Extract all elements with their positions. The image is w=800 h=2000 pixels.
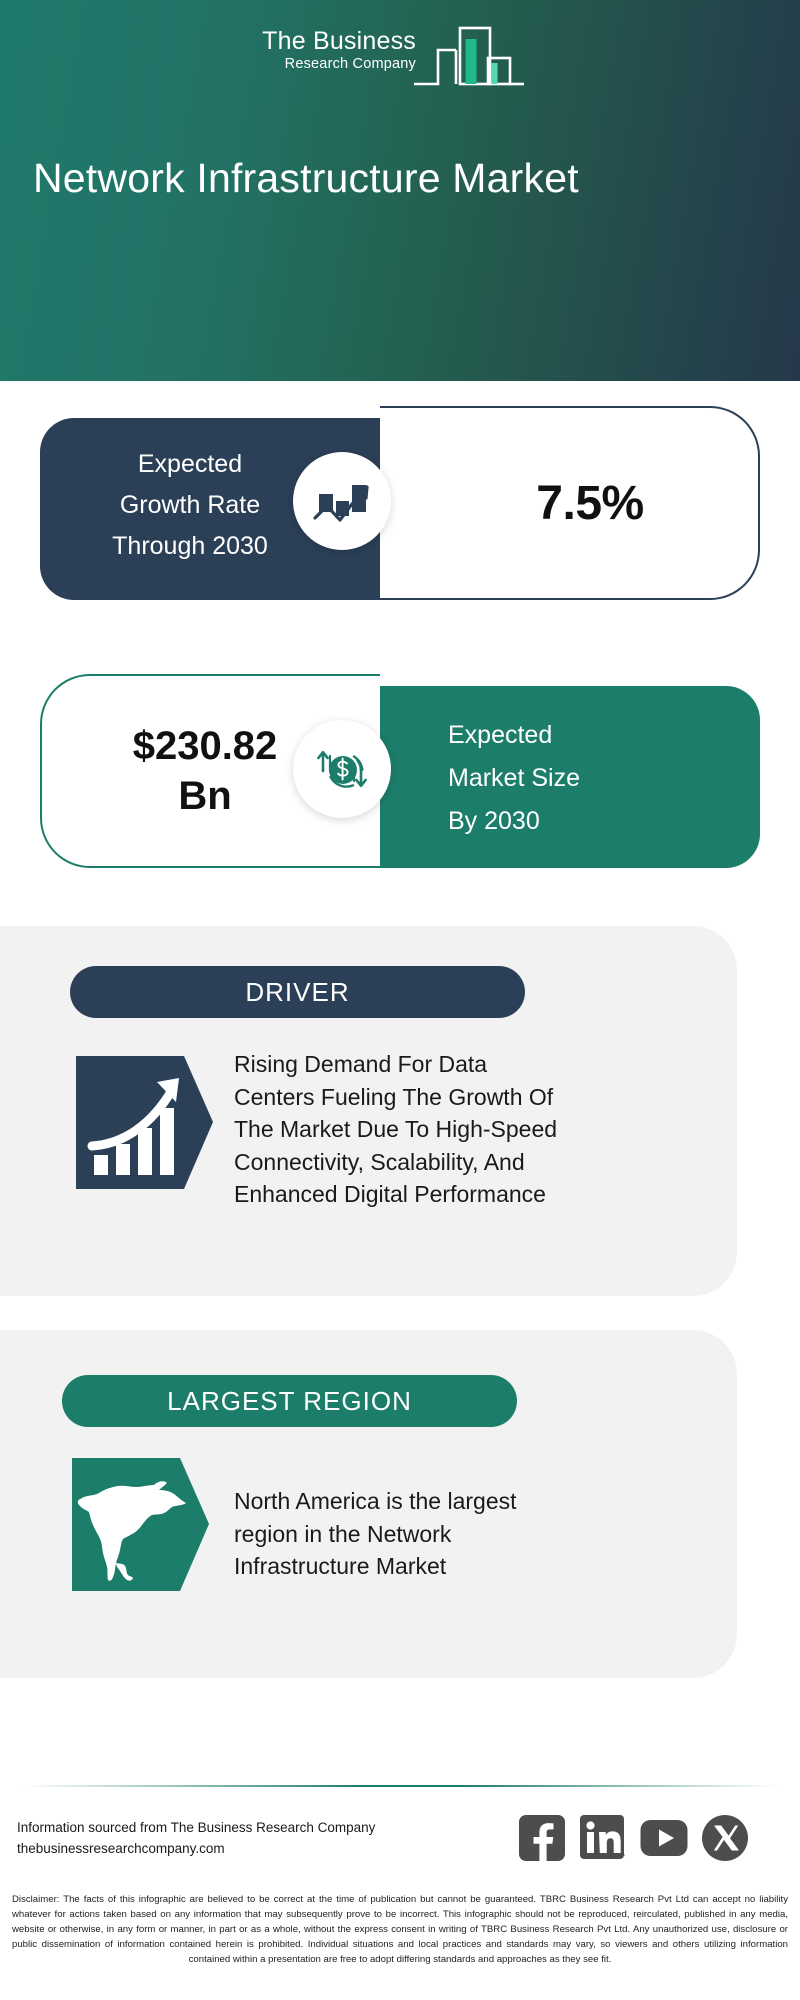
- market-size-value-line1: $230.82: [133, 721, 278, 771]
- company-logo-line1: The Business: [216, 28, 416, 55]
- driver-panel: DRIVER Rising Demand For Data Centers Fu…: [0, 926, 737, 1296]
- svg-text:™: ™: [619, 1853, 625, 1860]
- stat-card-market-size-label-panel: Expected Market Size By 2030: [380, 686, 760, 868]
- company-logo: The Business Research Company: [216, 22, 526, 92]
- footer-disclaimer: Disclaimer: The facts of this infographi…: [12, 1892, 788, 1967]
- footer-divider: [22, 1785, 778, 1787]
- page-title: Network Infrastructure Market: [33, 152, 773, 204]
- growth-rate-label-line3: Through 2030: [40, 526, 340, 567]
- largest-region-panel: LARGEST REGION North America is the larg…: [0, 1330, 737, 1678]
- bar-chart-logo-mark: [412, 22, 526, 94]
- largest-region-text: North America is the largest region in t…: [234, 1485, 564, 1583]
- driver-pill: DRIVER: [70, 966, 525, 1018]
- stat-card-market-size-label: Expected Market Size By 2030: [448, 714, 738, 843]
- footer-source-line2[interactable]: thebusinessresearchcompany.com: [17, 1838, 447, 1859]
- stat-card-market-size: $230.82 Bn Expected Market Size By 2030: [40, 674, 760, 868]
- social-links: ™: [518, 1812, 788, 1864]
- market-size-value-line2: Bn: [178, 771, 231, 821]
- company-logo-text: The Business Research Company: [216, 28, 416, 73]
- driver-text: Rising Demand For Data Centers Fueling T…: [234, 1048, 574, 1211]
- dollar-circular-arrows-icon: [310, 737, 374, 801]
- driver-pill-label: DRIVER: [245, 977, 349, 1008]
- north-america-map-hexagon-icon: [72, 1458, 209, 1591]
- market-size-label-line3: By 2030: [448, 800, 738, 843]
- x-twitter-icon[interactable]: [701, 1814, 749, 1862]
- market-size-label-line2: Market Size: [448, 757, 738, 800]
- facebook-icon[interactable]: [518, 1814, 566, 1862]
- infographic-page: The Business Research Company Network In…: [0, 0, 800, 2000]
- youtube-icon[interactable]: [640, 1814, 688, 1862]
- rising-bar-chart-hexagon-icon: [76, 1056, 213, 1189]
- largest-region-pill-label: LARGEST REGION: [167, 1386, 412, 1417]
- growth-rate-badge: [293, 452, 391, 550]
- footer-source: Information sourced from The Business Re…: [17, 1817, 447, 1859]
- growth-rate-label-line1: Expected: [40, 444, 340, 485]
- header-banner: The Business Research Company Network In…: [0, 0, 800, 381]
- market-size-label-line1: Expected: [448, 714, 738, 757]
- stat-card-growth-rate: Expected Growth Rate Through 2030 7.5%: [40, 406, 760, 600]
- company-logo-line2: Research Company: [216, 55, 416, 73]
- largest-region-pill: LARGEST REGION: [62, 1375, 517, 1427]
- stat-card-growth-rate-value: 7.5%: [440, 406, 740, 600]
- footer-source-line1: Information sourced from The Business Re…: [17, 1817, 447, 1838]
- linkedin-icon[interactable]: ™: [579, 1814, 627, 1862]
- market-size-badge: [293, 720, 391, 818]
- growth-bar-chart-arrow-icon: [311, 470, 373, 532]
